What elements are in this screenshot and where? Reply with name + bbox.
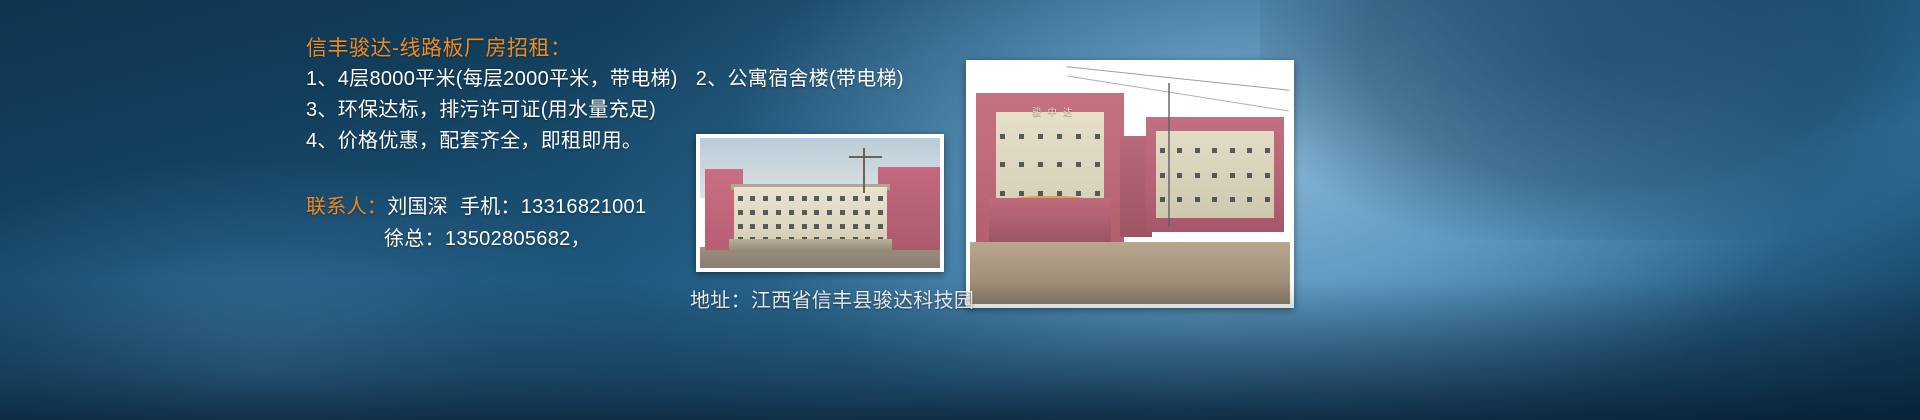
photo-road — [970, 242, 1290, 304]
bullet-item-1-left: 1、4层8000平米(每层2000平米，带电梯) — [306, 68, 678, 90]
factory-building-photo — [696, 134, 944, 272]
photo-window-row — [734, 196, 888, 201]
photo-crane-mast — [863, 148, 865, 192]
photo-window-row — [734, 210, 888, 215]
page-title: 信丰骏达-线路板厂房招租： — [306, 34, 946, 64]
contact-phone-number: 13316821001 — [521, 196, 647, 218]
company-gate-photo-inner: 骏 中 达 — [970, 64, 1290, 304]
photo-window-row — [1156, 197, 1274, 202]
factory-building-photo-inner — [700, 138, 940, 268]
photo-window-row — [996, 162, 1105, 167]
bullet-item-1: 1、4层8000平米(每层2000平米，带电梯)2、公寓宿舍楼(带电梯) — [306, 64, 946, 95]
photo-utility-pole — [1168, 83, 1170, 227]
company-sign-text: 骏 中 达 — [989, 98, 1117, 127]
photo-crane-jib — [849, 156, 883, 158]
photo-right-building-facade — [1156, 131, 1274, 217]
contact-secondary-phone: 13502805682， — [445, 228, 591, 250]
contact-phone-label: 手机： — [460, 196, 521, 218]
contact-secondary-name: 徐总： — [384, 228, 445, 250]
contact-label: 联系人： — [306, 196, 387, 218]
photo-window-row — [734, 224, 888, 229]
address-caption: 地址：江西省信丰县骏达科技园 — [690, 284, 974, 313]
photo-window-row — [1156, 148, 1274, 153]
photo-window-row — [1156, 173, 1274, 178]
contact-name: 刘国深 — [387, 196, 448, 218]
photo-window-row — [996, 134, 1105, 139]
company-gate-photo: 骏 中 达 — [966, 60, 1294, 308]
background-glow-top-right — [1260, 0, 1920, 240]
bullet-item-3-left: 4、价格优惠，配套齐全，即租即用。 — [306, 130, 642, 152]
advertisement-banner: 信丰骏达-线路板厂房招租： 1、4层8000平米(每层2000平米，带电梯)2、… — [0, 0, 1920, 420]
bullet-item-1-right: 2、公寓宿舍楼(带电梯) — [696, 68, 904, 90]
photo-building-base — [729, 239, 892, 252]
photo-entrance-gate — [989, 198, 1111, 241]
photo-power-line — [1067, 67, 1290, 91]
bullet-item-2: 3、环保达标，排污许可证(用水量充足) — [306, 95, 946, 126]
bullet-item-2-left: 3、环保达标，排污许可证(用水量充足) — [306, 99, 656, 121]
